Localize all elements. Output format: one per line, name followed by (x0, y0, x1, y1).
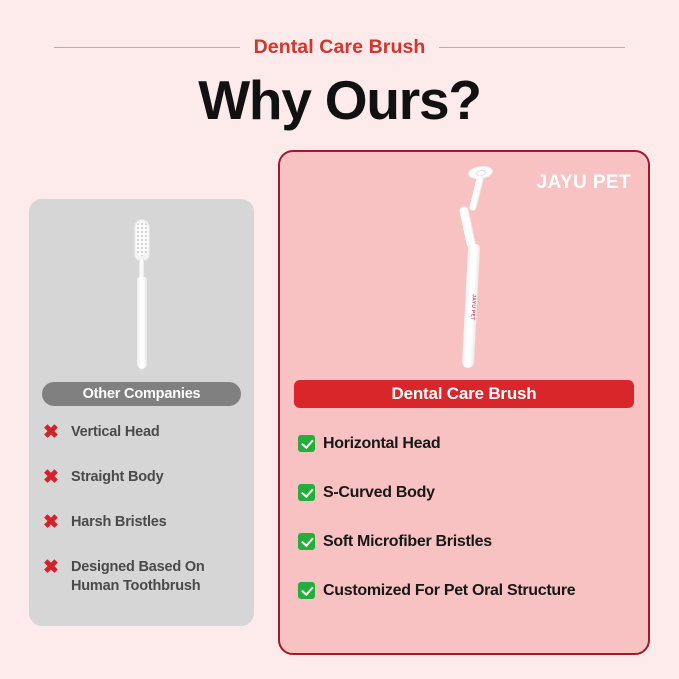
list-item-label: Customized For Pet Oral Structure (323, 580, 575, 601)
check-icon (298, 533, 315, 550)
other-companies-product-image (29, 199, 254, 371)
page-title: Why Ours? (0, 68, 679, 132)
other-companies-feature-list: ✖ Vertical Head ✖ Straight Body ✖ Harsh … (43, 423, 248, 621)
cross-icon: ✖ (43, 423, 65, 442)
dental-care-brush-product-image: JAYU PET (280, 152, 648, 374)
check-icon (298, 484, 315, 501)
comparison-panel-dental-care-brush: JAYU PET JAYU PET Dental Care Brush Hori… (278, 150, 650, 655)
list-item: Customized For Pet Oral Structure (298, 580, 638, 602)
check-icon (298, 435, 315, 452)
list-item: ✖ Straight Body (43, 468, 248, 488)
cross-icon: ✖ (43, 468, 65, 487)
list-item: ✖ Harsh Bristles (43, 513, 248, 533)
list-item-label: Soft Microfiber Bristles (323, 531, 492, 552)
list-item: Horizontal Head (298, 433, 638, 455)
list-item-label: Harsh Bristles (71, 513, 167, 532)
straight-toothbrush-icon (129, 219, 155, 369)
pet-toothbrush-icon: JAYU PET (452, 166, 512, 371)
list-item-label: Straight Body (71, 468, 163, 487)
rule-right (439, 47, 625, 48)
list-item-label: Vertical Head (71, 423, 159, 442)
list-item: ✖ Vertical Head (43, 423, 248, 443)
rule-left (54, 47, 240, 48)
list-item: S-Curved Body (298, 482, 638, 504)
list-item-label: Designed Based On Human Toothbrush (71, 558, 248, 596)
pet-brush-neck (469, 175, 485, 212)
cross-icon: ✖ (43, 513, 65, 532)
list-item: Soft Microfiber Bristles (298, 531, 638, 553)
page-header: Dental Care Brush Why Ours? (0, 0, 679, 150)
list-item: ✖ Designed Based On Human Toothbrush (43, 558, 248, 596)
pet-brush-handle-print: JAYU PET (465, 294, 476, 321)
toothbrush-bristles (136, 222, 148, 256)
dental-care-brush-badge: Dental Care Brush (294, 380, 634, 408)
pet-brush-curve (459, 206, 477, 249)
eyebrow-title: Dental Care Brush (254, 36, 426, 59)
comparison-panel-other-companies: Other Companies ✖ Vertical Head ✖ Straig… (29, 199, 254, 626)
other-companies-badge: Other Companies (42, 382, 241, 406)
cross-icon: ✖ (43, 558, 65, 577)
list-item-label: Horizontal Head (323, 433, 440, 454)
check-icon (298, 582, 315, 599)
toothbrush-handle (137, 277, 147, 369)
list-item-label: S-Curved Body (323, 482, 435, 503)
dental-care-brush-feature-list: Horizontal Head S-Curved Body Soft Micro… (298, 433, 638, 629)
eyebrow-row: Dental Care Brush (0, 33, 679, 61)
